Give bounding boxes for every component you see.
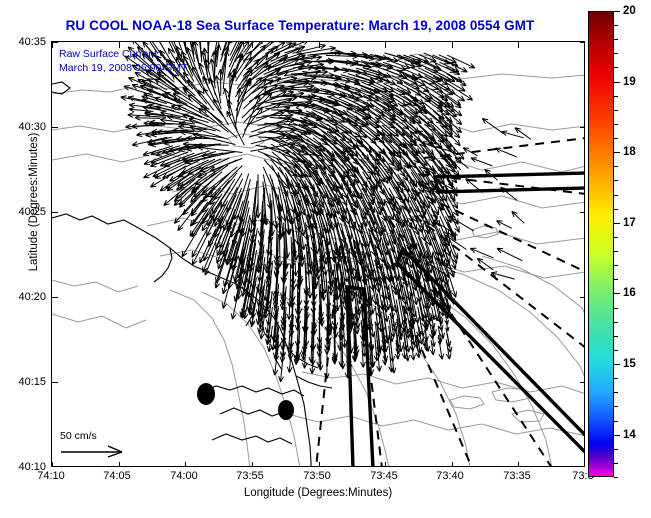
colorbar-gradient: [589, 12, 613, 476]
figure-root: RU COOL NOAA-18 Sea Surface Temperature:…: [0, 0, 651, 518]
y-axis-label: Latitude (Degrees:Minutes): [28, 122, 40, 282]
colorbar-minor-tick: [614, 251, 618, 252]
current-vector: [497, 248, 522, 260]
colorbar-minor-tick: [614, 322, 618, 323]
y-tick-label: 40:20: [0, 291, 46, 303]
colorbar-minor-tick: [614, 237, 618, 238]
colorbar-minor-tick: [614, 392, 618, 393]
figure-title: RU COOL NOAA-18 Sea Surface Temperature:…: [0, 18, 600, 33]
x-tick-label: 74:00: [154, 470, 214, 482]
current-vector: [477, 258, 493, 269]
station-marker: [278, 400, 294, 420]
colorbar-tick-label: 18: [623, 146, 636, 158]
y-tick-label: 40:35: [0, 36, 46, 48]
colorbar[interactable]: [588, 11, 614, 477]
surface-current-vectors: [121, 42, 531, 382]
colorbar-tick: [614, 223, 620, 224]
colorbar-minor-tick: [614, 378, 618, 379]
current-vector: [396, 95, 422, 112]
colorbar-tick: [614, 364, 620, 365]
colorbar-tick-label: 17: [623, 217, 636, 229]
current-vector: [447, 55, 475, 68]
colorbar-minor-tick: [614, 449, 618, 450]
current-vector: [512, 211, 525, 223]
colorbar-tick-label: 15: [623, 358, 636, 370]
colorbar-minor-tick: [614, 53, 618, 54]
current-vector: [495, 148, 517, 157]
x-tick-label: 73:40: [420, 470, 480, 482]
current-vector: [389, 326, 395, 362]
colorbar-minor-tick: [614, 477, 618, 478]
colorbar-minor-tick: [614, 421, 618, 422]
current-vector: [497, 221, 512, 229]
colorbar-minor-tick: [614, 39, 618, 40]
colorbar-minor-tick: [614, 138, 618, 139]
x-tick-label: 74:10: [21, 470, 81, 482]
colorbar-tick-label: 20: [623, 5, 636, 17]
colorbar-tick: [614, 293, 620, 294]
current-vector: [279, 60, 307, 69]
x-tick-label: 73:50: [287, 470, 347, 482]
current-vector: [471, 158, 492, 166]
current-vector: [227, 179, 243, 212]
colorbar-minor-tick: [614, 308, 618, 309]
colorbar-minor-tick: [614, 195, 618, 196]
station-marker: [197, 383, 215, 405]
colorbar-minor-tick: [614, 110, 618, 111]
colorbar-minor-tick: [614, 463, 618, 464]
current-vector: [332, 340, 337, 362]
colorbar-tick: [614, 152, 620, 153]
map-canvas: [52, 42, 585, 467]
colorbar-minor-tick: [614, 25, 618, 26]
colorbar-tick: [614, 11, 620, 12]
colorbar-minor-tick: [614, 124, 618, 125]
station-markers: [197, 383, 294, 420]
x-tick-label: 73:45: [354, 470, 414, 482]
scale-legend-label: 50 cm/s: [60, 430, 132, 442]
colorbar-tick-label: 14: [623, 429, 636, 441]
x-tick-label: 73:35: [487, 470, 547, 482]
current-annotation: Raw Surface Current: March 19, 2008 06:0…: [59, 47, 187, 75]
current-vector: [439, 342, 444, 359]
annotation-line-2: March 19, 2008 06:00 GMT: [59, 61, 187, 75]
y-tick-label: 40:15: [0, 376, 46, 388]
current-vector: [285, 46, 306, 53]
colorbar-tick-label: 19: [623, 76, 636, 88]
scale-legend: 50 cm/s: [60, 430, 132, 465]
colorbar-minor-tick: [614, 350, 618, 351]
colorbar-minor-tick: [614, 67, 618, 68]
colorbar-tick: [614, 82, 620, 83]
current-vector: [391, 61, 410, 68]
colorbar-minor-tick: [614, 336, 618, 337]
colorbar-tick: [614, 435, 620, 436]
annotation-line-1: Raw Surface Current:: [59, 47, 187, 61]
current-vector: [470, 248, 493, 258]
current-vector: [449, 216, 473, 231]
colorbar-minor-tick: [614, 166, 618, 167]
x-tick-label: 74:05: [87, 470, 147, 482]
colorbar-minor-tick: [614, 209, 618, 210]
colorbar-minor-tick: [614, 180, 618, 181]
right-arrow-icon: [60, 442, 132, 460]
map-plot-area[interactable]: [51, 41, 585, 467]
colorbar-tick-label: 16: [623, 287, 636, 299]
colorbar-minor-tick: [614, 265, 618, 266]
x-tick-label: 73:55: [220, 470, 280, 482]
current-vector: [430, 340, 435, 355]
x-axis-label: Longitude (Degrees:Minutes): [51, 487, 585, 499]
colorbar-minor-tick: [614, 96, 618, 97]
colorbar-minor-tick: [614, 406, 618, 407]
colorbar-minor-tick: [614, 279, 618, 280]
current-vector: [342, 68, 368, 75]
